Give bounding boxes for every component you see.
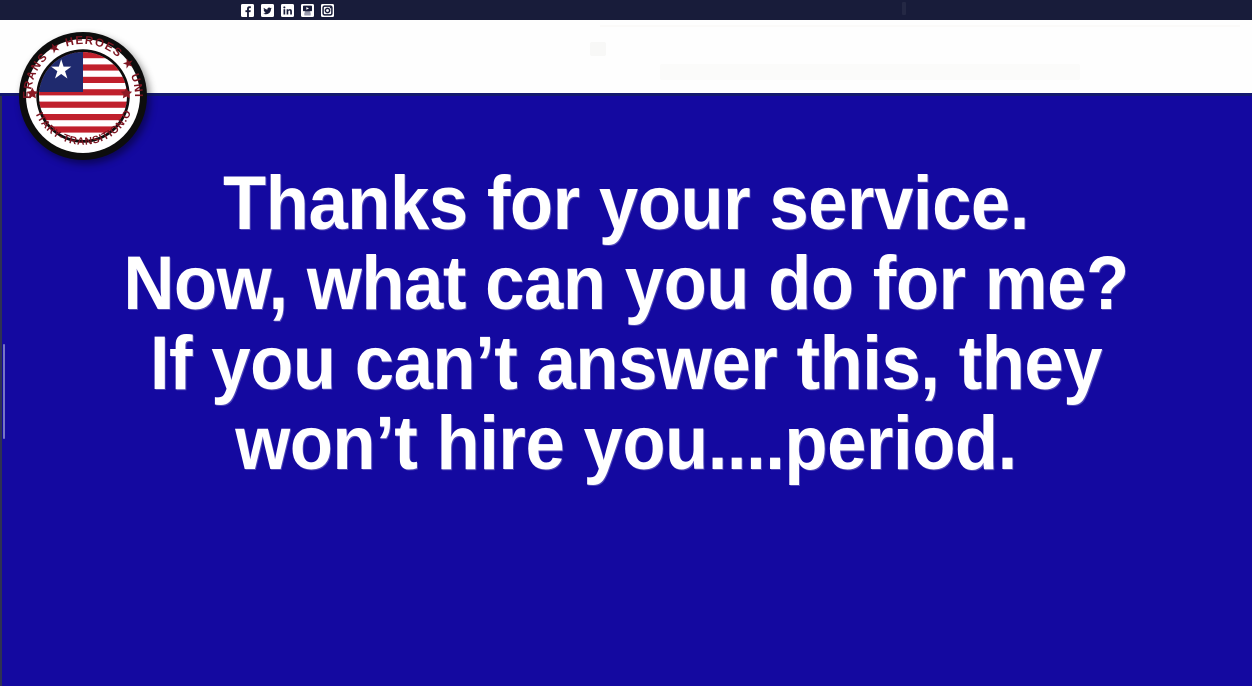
military-transition-seal-logo[interactable]: VETERANS ★ HEROES ★ UNITED MILITARY-TRAN… [18, 31, 148, 161]
headline-line-2: Now, what can you do for me? [44, 244, 1208, 324]
headline-line-1: Thanks for your service. [44, 164, 1208, 244]
twitter-icon[interactable] [261, 4, 274, 17]
hero-banner: Thanks for your service. Now, what can y… [0, 96, 1252, 686]
header-artifact-left [590, 42, 606, 56]
headline-line-4: won’t hire you....period. [44, 404, 1208, 484]
header-artifact-mid [660, 64, 1080, 80]
page-root: MILITARY-TRANSITION.ORG [0, 0, 1252, 686]
instagram-icon[interactable] [321, 4, 334, 17]
topbar-artifact [902, 2, 906, 15]
linkedin-icon[interactable] [281, 4, 294, 17]
header-bottom-rule [0, 93, 1252, 96]
site-header [0, 20, 1252, 95]
hero-headline: Thanks for your service. Now, what can y… [44, 164, 1208, 484]
scrollbar-thumb[interactable] [3, 344, 5, 439]
headline-line-3: If you can’t answer this, they [44, 324, 1208, 404]
social-links-group [241, 1, 334, 19]
youtube-icon[interactable] [301, 4, 314, 17]
top-social-bar [0, 0, 1252, 20]
hero-left-edge [0, 96, 2, 686]
facebook-icon[interactable] [241, 4, 254, 17]
header-artifact-top [600, 25, 1240, 27]
